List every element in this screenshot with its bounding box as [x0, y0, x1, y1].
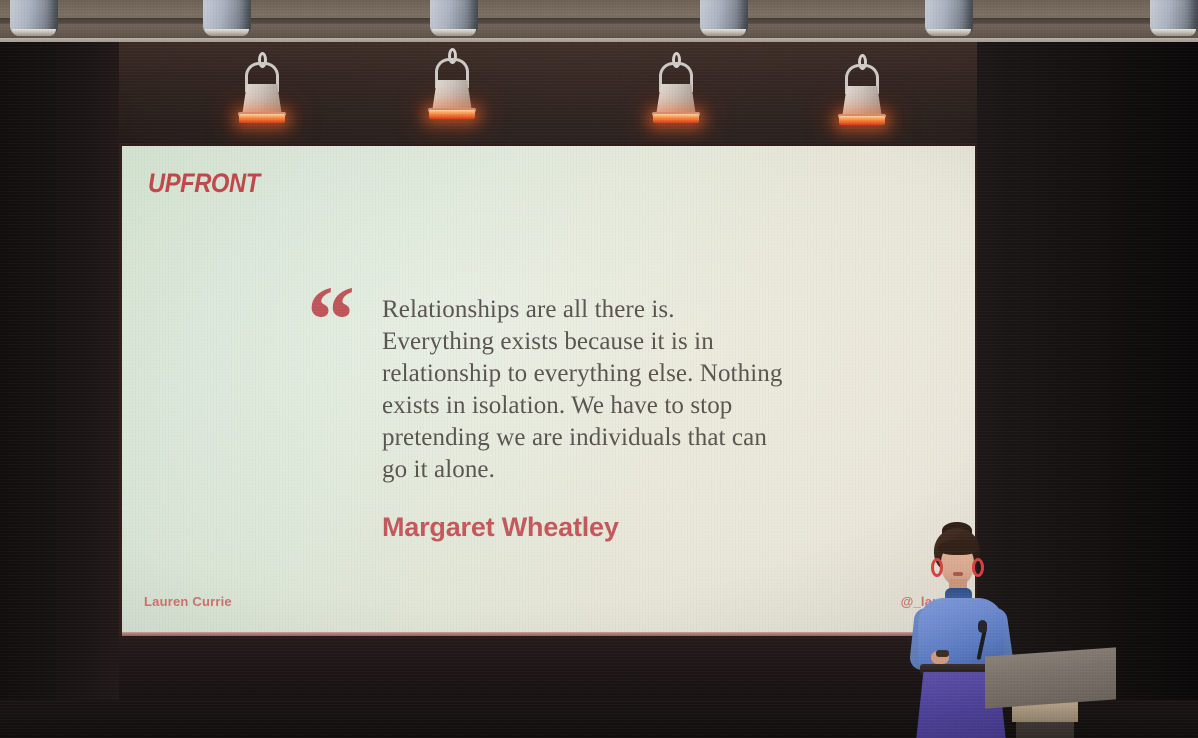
earring-right-icon [972, 558, 984, 577]
ceiling-fixture-1 [10, 0, 58, 36]
presentation-slide: UPFRONT “ Relationships are all there is… [122, 146, 975, 635]
light-glow [429, 110, 475, 119]
ceiling-fixture-6 [1150, 0, 1198, 36]
lectern [985, 647, 1116, 708]
light-glow [239, 114, 285, 123]
light-glow [839, 116, 885, 125]
ceiling-fixture-4 [700, 0, 748, 36]
quote-line: Relationships are all there is. [382, 294, 867, 326]
speaker-lips [953, 572, 963, 576]
speaker-fringe [938, 540, 978, 555]
quote-line: relationship to everything else. Nothing [382, 358, 867, 390]
earring-left-icon [931, 558, 943, 577]
quote-text: Relationships are all there is. Everythi… [382, 294, 867, 486]
quote-line: pretending we are individuals that can [382, 422, 867, 454]
ceiling-pipe [0, 18, 1198, 24]
stage-scene: UPFRONT “ Relationships are all there is… [0, 0, 1198, 738]
upfront-logo: UPFRONT [148, 168, 260, 199]
stage-left-dark [0, 42, 119, 738]
quote-line: Everything exists because it is in [382, 326, 867, 358]
quote-author: Margaret Wheatley [382, 512, 867, 543]
quote-line: go it alone. [382, 454, 867, 486]
ceiling-fixture-2 [203, 0, 251, 36]
quote-line: exists in isolation. We have to stop [382, 390, 867, 422]
quote-mark-icon: “ [307, 290, 355, 350]
microphone-icon [978, 620, 987, 633]
slide-footer-presenter: Lauren Currie [144, 594, 232, 609]
ceiling-fixture-5 [925, 0, 973, 36]
quote-block: “ Relationships are all there is. Everyt… [307, 294, 867, 543]
light-glow [653, 114, 699, 123]
presentation-clicker [936, 650, 949, 657]
ceiling-fixture-3 [430, 0, 478, 36]
